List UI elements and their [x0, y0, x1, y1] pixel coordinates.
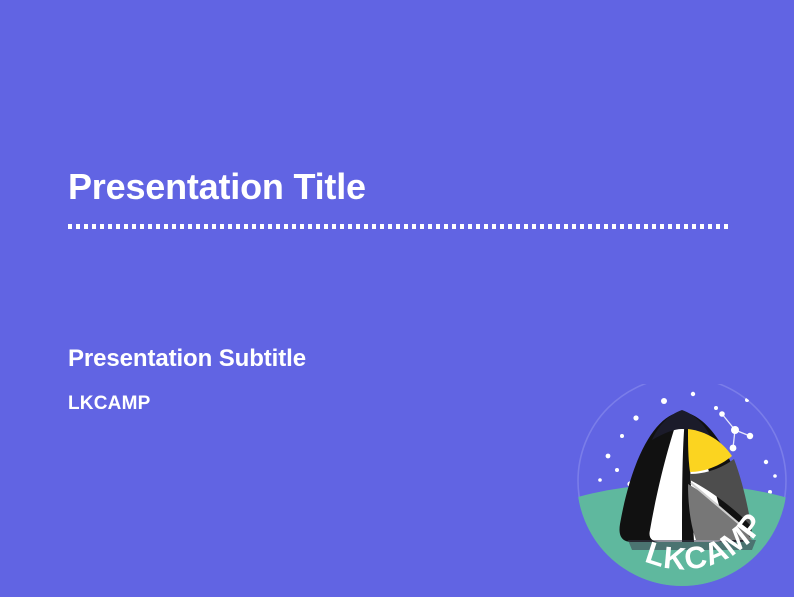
presentation-author: LKCAMP: [68, 392, 568, 416]
title-divider: [68, 224, 728, 229]
presentation-subtitle: Presentation Subtitle: [68, 344, 568, 374]
page-title: Presentation Title: [68, 166, 730, 208]
lkcamp-logo-graphic: LKCAMP: [570, 384, 794, 597]
title-block: Presentation Title: [68, 166, 730, 229]
subtitle-block: Presentation Subtitle LKCAMP: [68, 344, 568, 416]
lkcamp-logo: LKCAMP: [570, 384, 794, 597]
constellation-icon: [719, 411, 753, 451]
presentation-slide: Presentation Title Presentation Subtitle…: [0, 0, 794, 597]
logo-inner: LKCAMP: [578, 392, 788, 597]
